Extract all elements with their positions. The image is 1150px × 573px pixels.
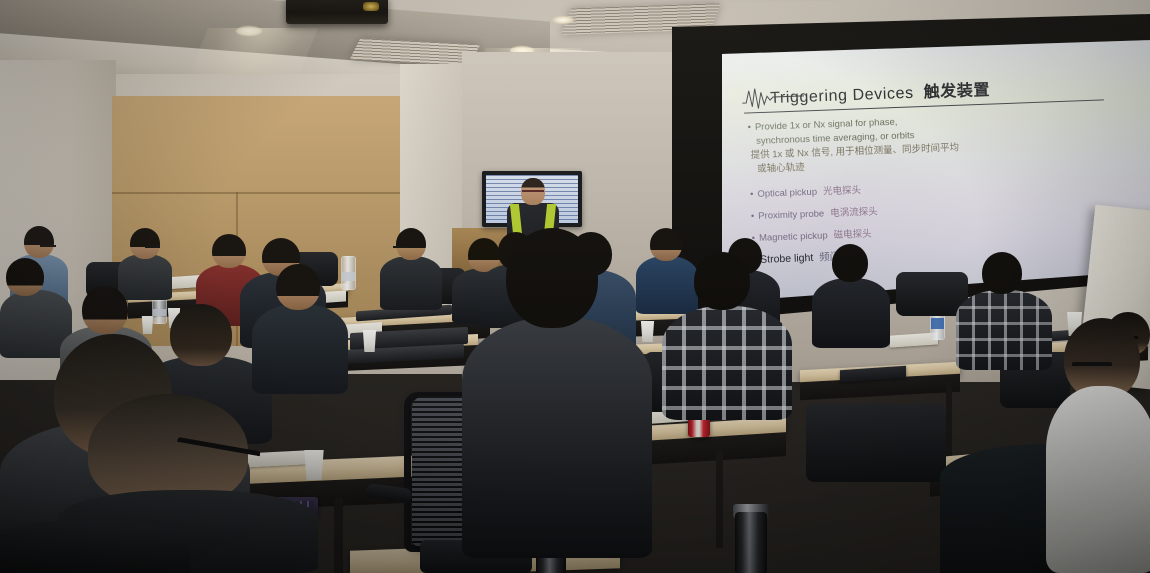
attendee-torso: [380, 256, 442, 310]
ceiling-projector: [286, 0, 388, 24]
attendee-head: [982, 252, 1022, 294]
attendee-foreground: [462, 228, 652, 558]
attendee-head: [396, 228, 426, 260]
attendee: [252, 264, 348, 394]
table-leg: [334, 498, 343, 573]
bullet-text: Optical pickup: [757, 187, 817, 200]
chair-back: [806, 404, 946, 482]
glasses-icon: [1072, 362, 1112, 372]
attendee-torso: [662, 306, 792, 420]
bullet-marker: •: [750, 189, 754, 200]
attendee-torso: [462, 316, 652, 558]
downlight-icon: [236, 26, 262, 36]
thermos-flask: [735, 512, 767, 573]
attendee-torso: [812, 278, 890, 348]
attendee: [662, 252, 792, 420]
attendee-head: [130, 228, 160, 259]
slide-body: •Provide 1x or Nx signal for phase, sync…: [747, 107, 1142, 269]
attendee-head: [506, 228, 598, 328]
attendee: [956, 252, 1052, 370]
attendee-head: [82, 286, 128, 334]
bullet-marker: •: [747, 122, 751, 133]
attendee-head: [6, 258, 44, 296]
attendee: [812, 244, 890, 348]
bullet-text-cn: 磁电探头: [833, 229, 871, 241]
bullet-text-cn: 光电探头: [823, 185, 861, 197]
attendee-head: [694, 252, 750, 310]
attendee-foreground: [1046, 318, 1150, 573]
bullet-text-cn: 电涡流探头: [830, 206, 878, 219]
paper-cup: [362, 330, 377, 352]
table-leg: [716, 452, 723, 548]
attendee: [380, 228, 442, 310]
bottle-label: [931, 318, 944, 328]
attendee-torso: [956, 290, 1052, 370]
attendee-torso: [252, 304, 348, 394]
attendee-torso: [1046, 386, 1150, 573]
slide-title-en: Triggering Devices: [770, 85, 914, 107]
glasses-icon: [145, 246, 160, 251]
projector-lens-icon: [363, 2, 379, 11]
bullet-text-cn: 或轴心轨迹: [757, 162, 805, 175]
attendee-head: [24, 226, 54, 258]
attendee-torso: [0, 520, 190, 573]
glasses-icon: [40, 245, 56, 250]
bullet-marker: •: [751, 211, 755, 222]
bullet-text: Proximity probe: [758, 208, 824, 221]
slide-bullet: •Strobe light频闪灯: [752, 240, 1142, 267]
attendee-foreground: [0, 520, 190, 573]
attendee-head: [276, 264, 320, 310]
attendee-head: [832, 244, 868, 282]
slide-title: Triggering Devices触发装置: [770, 76, 991, 108]
glasses-icon: [522, 190, 544, 197]
downlight-icon: [552, 16, 574, 24]
slide-title-cn: 触发装置: [923, 82, 990, 101]
glasses-icon: [393, 246, 408, 251]
classroom-photo: Triggering Devices触发装置 •Provide 1x or Nx…: [0, 0, 1150, 573]
